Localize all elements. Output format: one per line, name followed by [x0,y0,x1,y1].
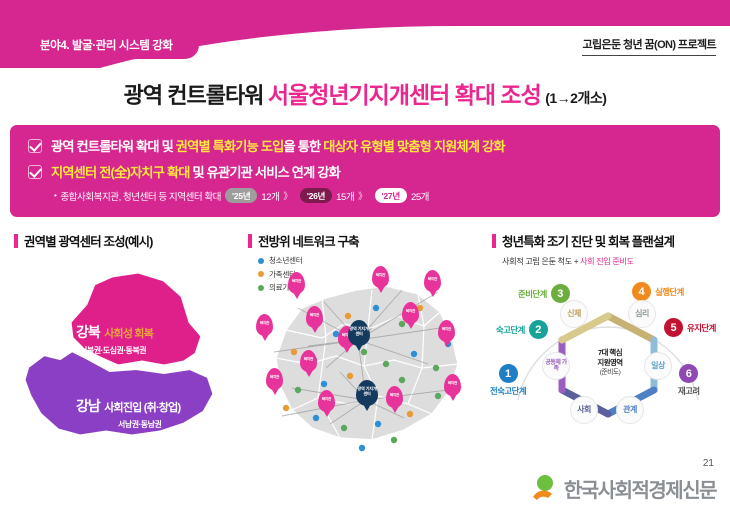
chevron-icon: 》 [358,189,367,202]
facility-pin[interactable]: 복지관 [318,390,335,412]
facility-pin[interactable]: 복지관 [438,320,455,342]
check-icon [28,165,42,179]
page-number: 21 [703,458,714,469]
regional-hub-pin[interactable]: 광역 기지개센터 [348,320,370,346]
stage-label: 숙고단계 [496,324,525,336]
region-name: 강남 [76,398,100,414]
network-map: 복지관 복지관 복지관 복지관 복지관 복지관 복지관 복지관 복지관 복지관 … [252,268,480,463]
core-line-1: 7대 핵심 [584,348,636,358]
region-role: 사회성 회복 [104,328,153,340]
bullet-2-text: 지역센터 전(全)자치구 확대 및 유관기관 서비스 연계 강화 [51,162,340,181]
legend-dot-youth-center-icon [258,258,264,264]
network-map-base-icon [252,268,480,463]
chevron-icon: 》 [283,189,292,202]
stage-label: 실행단계 [655,286,684,298]
region-label-gangnam: 강남 사회진입 (취·창업) [76,396,180,416]
stage-number: 1 [499,364,518,383]
bullet-1-text: 광역 컨트롤타워 확대 및 권역별 특화기능 도입을 통한 대상자 유형별 맞춤… [51,136,505,155]
bar-marker-icon [14,234,18,248]
year-count-2026: 15개 [336,189,354,203]
panel-left-title: 권역별 광역센터 조성(예시) [24,232,153,250]
bullet-2-part2: 및 유관기관 서비스 연계 강화 [190,165,340,180]
regional-hub-pin[interactable]: 광역 기지개센터 [356,380,378,406]
bullet-1-part2: 을 통한 [284,139,324,154]
region-label-gangbuk: 강북 사회성 회복 [76,322,153,342]
domain-node-society: 사회 [570,396,598,424]
check-icon [28,139,42,153]
region-areas: 서남권·동남권 [118,420,161,429]
subtitle-pink: 사회 진입 준비도 [580,257,634,266]
region-name: 강북 [76,324,100,340]
year-badge-2026: '26년 [300,188,332,203]
subtitle-plain: 사회적 고립 은둔 척도 + [502,257,580,266]
year-count-2025: 12개 [261,189,279,203]
bullet-row-2: 지역센터 전(全)자치구 확대 및 유관기관 서비스 연계 강화 [28,162,720,181]
title-suffix: (1→2개소) [545,90,606,106]
domain-node-daily: 일상 [644,352,672,380]
stage-number: 4 [632,282,651,301]
subnote-row: • 종합사회복지관, 청년센터 등 지역센터 확대 '25년 12개 》 '26… [54,188,720,203]
stage-number: 6 [679,364,698,383]
bullet-row-1: 광역 컨트롤타워 확대 및 권역별 특화기능 도입을 통한 대상자 유형별 맞춤… [28,136,720,155]
stage-1: 1 전숙고단계 [490,364,526,397]
year-count-2027: 25개 [411,189,429,203]
facility-pin[interactable]: 복지관 [402,302,419,324]
core-line-2: 지원영역 [584,358,636,368]
facility-pin[interactable]: 복지관 [288,272,305,294]
stage-4: 4 실행단계 [632,282,684,301]
stage-label: 전숙고단계 [490,385,526,397]
panel-right-header: 청년특화 조기 진단 및 회복 플랜설계 [492,232,722,250]
bullet-1-highlight1: 권역별 특화기능 도입 [176,139,284,154]
facility-pin[interactable]: 복지관 [424,270,441,292]
region-areas-gangnam: 서남권·동남권 [118,414,161,432]
panel-right-subtitle: 사회적 고립 은둔 척도 + 사회 진입 준비도 [502,255,722,267]
publisher-logo: 한국사회적경제신문 [524,471,716,505]
stage-label: 재고려 [678,385,700,397]
panel-middle-title: 전방위 네트워크 구축 [258,232,359,250]
domain-node-physical: 신체 [560,300,588,328]
domain-node-community: 공동체 가족 [542,352,570,380]
region-areas: 서북권·도심권·동북권 [80,346,146,355]
facility-pin[interactable]: 복지관 [256,314,273,336]
recovery-stage-diagram: 1 전숙고단계 숙고단계 2 준비단계 3 4 실행단계 5 유지단계 6 재고… [492,272,724,460]
bar-marker-icon [492,234,496,248]
project-title: 고립은둔 청년 꿈(ON) 프로젝트 [582,36,716,56]
stage-number: 3 [551,284,570,303]
panel-left-header: 권역별 광역센터 조성(예시) [14,232,239,250]
bullet-1-part1: 광역 컨트롤타워 확대 및 [51,139,176,154]
region-role: 사회진입 (취·창업) [104,402,180,414]
section-badge: 분야4. 발굴·관리 시스템 강화 [16,31,199,59]
stage-label: 유지단계 [687,322,716,334]
stage-2: 숙고단계 2 [496,320,548,339]
facility-pin[interactable]: 복지관 [386,386,403,408]
facility-pin[interactable]: 복지관 [306,306,323,328]
bullet-2-highlight1: 지역센터 전(全)자치구 확대 [51,165,190,180]
seoul-region-map: 강북 사회성 회복 서북권·도심권·동북권 강남 사회진입 (취·창업) 서남권… [14,262,239,462]
year-badge-2027: '27년 [375,188,407,203]
core-label: 7대 핵심 지원영역 (준비도) [584,348,636,377]
logo-mark-icon [524,471,558,505]
facility-pin[interactable]: 복지관 [266,368,283,390]
legend-label: 청소년센터 [269,255,302,266]
title-lead: 광역 컨트롤타워 [124,83,264,108]
subnote-text: 종합사회복지관, 청년센터 등 지역센터 확대 [60,189,221,203]
bullet-1-highlight2: 대상자 유형별 맞춤형 지원체계 강화 [323,139,504,154]
bar-marker-icon [248,234,252,248]
page-title: 광역 컨트롤타워 서울청년기지개센터 확대 조성 (1→2개소) [0,76,730,110]
core-domain-hexagon: 신체 심리 일상 관계 사회 공동체 가족 7대 핵심 지원영역 (준비도) [544,306,672,424]
section-badge-label: 분야4. 발굴·관리 시스템 강화 [40,37,173,53]
panel-left: 권역별 광역센터 조성(예시) [14,232,239,255]
facility-pin[interactable]: 복지관 [444,374,461,396]
stage-3: 준비단계 3 [518,284,570,303]
region-areas-gangbuk: 서북권·도심권·동북권 [80,340,146,358]
panel-right-title: 청년특화 조기 진단 및 회복 플랜설계 [502,232,674,250]
panel-middle-header: 전방위 네트워크 구축 [248,232,483,250]
stage-label: 준비단계 [518,288,547,300]
highlight-box: 광역 컨트롤타워 확대 및 권역별 특화기능 도입을 통한 대상자 유형별 맞춤… [10,125,720,217]
title-main: 서울청년기지개센터 확대 조성 [268,82,541,108]
seoul-map-shape-icon [14,262,239,462]
legend-item: 청소년센터 [258,255,483,266]
facility-pin[interactable]: 복지관 [300,350,317,372]
subnote-bullet-icon: • [54,191,56,200]
slide-root: 분야4. 발굴·관리 시스템 강화 고립은둔 청년 꿈(ON) 프로젝트 광역 … [0,0,730,513]
core-line-3: (준비도) [584,368,636,377]
logo-text: 한국사회적경제신문 [564,474,716,503]
facility-pin[interactable]: 복지관 [372,266,389,288]
domain-node-relation: 관계 [616,396,644,424]
year-badge-2025: '25년 [225,188,257,203]
panel-right: 청년특화 조기 진단 및 회복 플랜설계 사회적 고립 은둔 척도 + 사회 진… [492,232,722,271]
domain-node-psych: 심리 [628,300,656,328]
stage-6: 6 재고려 [678,364,700,397]
